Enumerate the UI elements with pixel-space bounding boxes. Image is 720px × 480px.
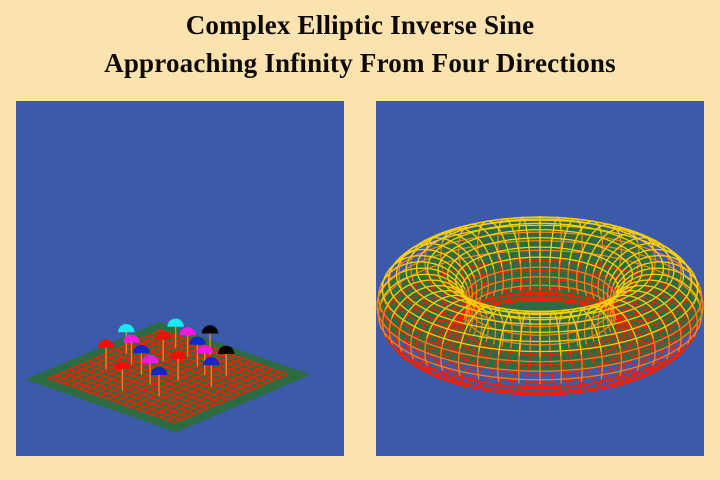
torus-wireframe-plot — [376, 101, 704, 456]
plot-panel-right — [376, 101, 704, 456]
title-line-2: Approaching Infinity From Four Direction… — [0, 44, 720, 82]
figure-title: Complex Elliptic Inverse Sine Approachin… — [0, 6, 720, 82]
surface-mesh-plot — [16, 101, 344, 456]
figure-canvas: Complex Elliptic Inverse Sine Approachin… — [0, 0, 720, 480]
plot-panel-left — [16, 101, 344, 456]
title-line-1: Complex Elliptic Inverse Sine — [0, 6, 720, 44]
